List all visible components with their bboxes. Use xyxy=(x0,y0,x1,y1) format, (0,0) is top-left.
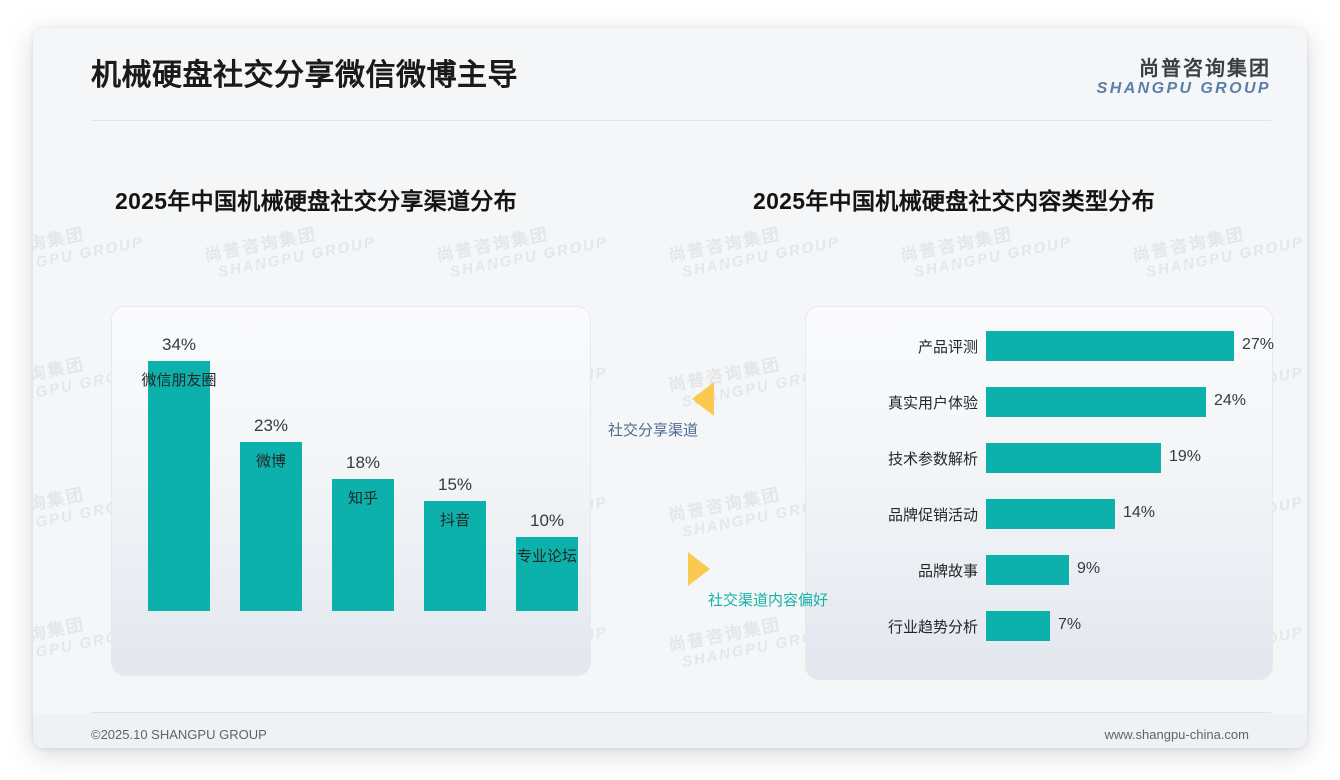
horizontal-bar-chart: 产品评测27%真实用户体验24%技术参数解析19%品牌促销活动14%品牌故事9%… xyxy=(806,307,1272,679)
watermark-text: 尚普咨询集团SHANGPU GROUP xyxy=(435,220,609,283)
bar-category-label: 微博 xyxy=(216,450,326,471)
page-title: 机械硬盘社交分享微信微博主导 xyxy=(91,50,518,94)
bar-category-label: 真实用户体验 xyxy=(828,392,978,413)
watermark-text: 尚普咨询集团SHANGPU GROUP xyxy=(33,220,145,283)
bar xyxy=(986,611,1050,641)
bar-value-label: 23% xyxy=(240,416,302,436)
chart-title-right: 2025年中国机械硬盘社交内容类型分布 xyxy=(753,182,1155,216)
bar-value-label: 10% xyxy=(516,511,578,531)
bar xyxy=(148,361,210,611)
bar-row: 真实用户体验24% xyxy=(806,385,1272,419)
bar-group: 15%抖音 xyxy=(424,501,486,611)
bar-value-label: 14% xyxy=(1123,504,1155,522)
chart-panel-right: 产品评测27%真实用户体验24%技术参数解析19%品牌促销活动14%品牌故事9%… xyxy=(805,306,1273,680)
bar xyxy=(986,387,1206,417)
chart-panel-left: 34%微信朋友圈23%微博18%知乎15%抖音10%专业论坛 xyxy=(111,306,591,676)
bar-value-label: 18% xyxy=(332,453,394,473)
watermark-text: 尚普咨询集团SHANGPU GROUP xyxy=(1131,220,1305,283)
bar-category-label: 知乎 xyxy=(308,487,418,508)
watermark-text: 尚普咨询集团SHANGPU GROUP xyxy=(667,220,841,283)
bar-value-label: 19% xyxy=(1169,448,1201,466)
watermark-text: 尚普咨询集团SHANGPU GROUP xyxy=(899,220,1073,283)
footer-copyright: ©2025.10 SHANGPU GROUP xyxy=(91,727,267,742)
bar-category-label: 抖音 xyxy=(400,509,510,530)
bar-category-label: 品牌促销活动 xyxy=(828,504,978,525)
bar-category-label: 品牌故事 xyxy=(828,560,978,581)
bar-category-label: 产品评测 xyxy=(828,336,978,357)
bar-category-label: 行业趋势分析 xyxy=(828,616,978,637)
bar xyxy=(986,499,1115,529)
bar-category-label: 微信朋友圈 xyxy=(124,369,234,390)
bar xyxy=(986,331,1234,361)
callout-a-label: 社交分享渠道 xyxy=(608,419,698,440)
bar-row: 产品评测27% xyxy=(806,329,1272,363)
bar-value-label: 27% xyxy=(1242,336,1274,354)
slide-body: 尚普咨询集团SHANGPU GROUP尚普咨询集团SHANGPU GROUP尚普… xyxy=(33,120,1307,680)
watermark-text: 尚普咨询集团SHANGPU GROUP xyxy=(203,220,377,283)
vertical-bar-chart: 34%微信朋友圈23%微博18%知乎15%抖音10%专业论坛 xyxy=(112,307,590,675)
bar-row: 技术参数解析19% xyxy=(806,441,1272,475)
slide-footer: ©2025.10 SHANGPU GROUP www.shangpu-china… xyxy=(33,713,1307,748)
slide-header: 机械硬盘社交分享微信微博主导 尚普咨询集团 SHANGPU GROUP xyxy=(33,28,1307,120)
triangle-left-icon xyxy=(692,382,714,416)
bar xyxy=(986,443,1161,473)
bar-value-label: 7% xyxy=(1058,616,1081,634)
bar-value-label: 34% xyxy=(148,335,210,355)
slide-card: 机械硬盘社交分享微信微博主导 尚普咨询集团 SHANGPU GROUP 尚普咨询… xyxy=(33,28,1307,748)
bar-row: 品牌促销活动14% xyxy=(806,497,1272,531)
chart-title-left: 2025年中国机械硬盘社交分享渠道分布 xyxy=(115,182,517,216)
footer-website[interactable]: www.shangpu-china.com xyxy=(1104,727,1249,742)
logo-english-text: SHANGPU GROUP xyxy=(1097,80,1271,98)
bar-value-label: 24% xyxy=(1214,392,1246,410)
brand-logo: 尚普咨询集团 SHANGPU GROUP xyxy=(1097,58,1271,98)
bar-value-label: 9% xyxy=(1077,560,1100,578)
bar-category-label: 专业论坛 xyxy=(492,545,602,566)
bar-group: 34%微信朋友圈 xyxy=(148,361,210,611)
bar xyxy=(986,555,1069,585)
bar-value-label: 15% xyxy=(424,475,486,495)
callout-b-label: 社交渠道内容偏好 xyxy=(708,589,828,610)
logo-chinese-text: 尚普咨询集团 xyxy=(1097,58,1271,80)
bar-group: 23%微博 xyxy=(240,442,302,611)
bar-group: 10%专业论坛 xyxy=(516,537,578,611)
bar-group: 18%知乎 xyxy=(332,479,394,611)
bar-row: 行业趋势分析7% xyxy=(806,609,1272,643)
bar-category-label: 技术参数解析 xyxy=(828,448,978,469)
bar-row: 品牌故事9% xyxy=(806,553,1272,587)
triangle-right-icon xyxy=(688,552,710,586)
